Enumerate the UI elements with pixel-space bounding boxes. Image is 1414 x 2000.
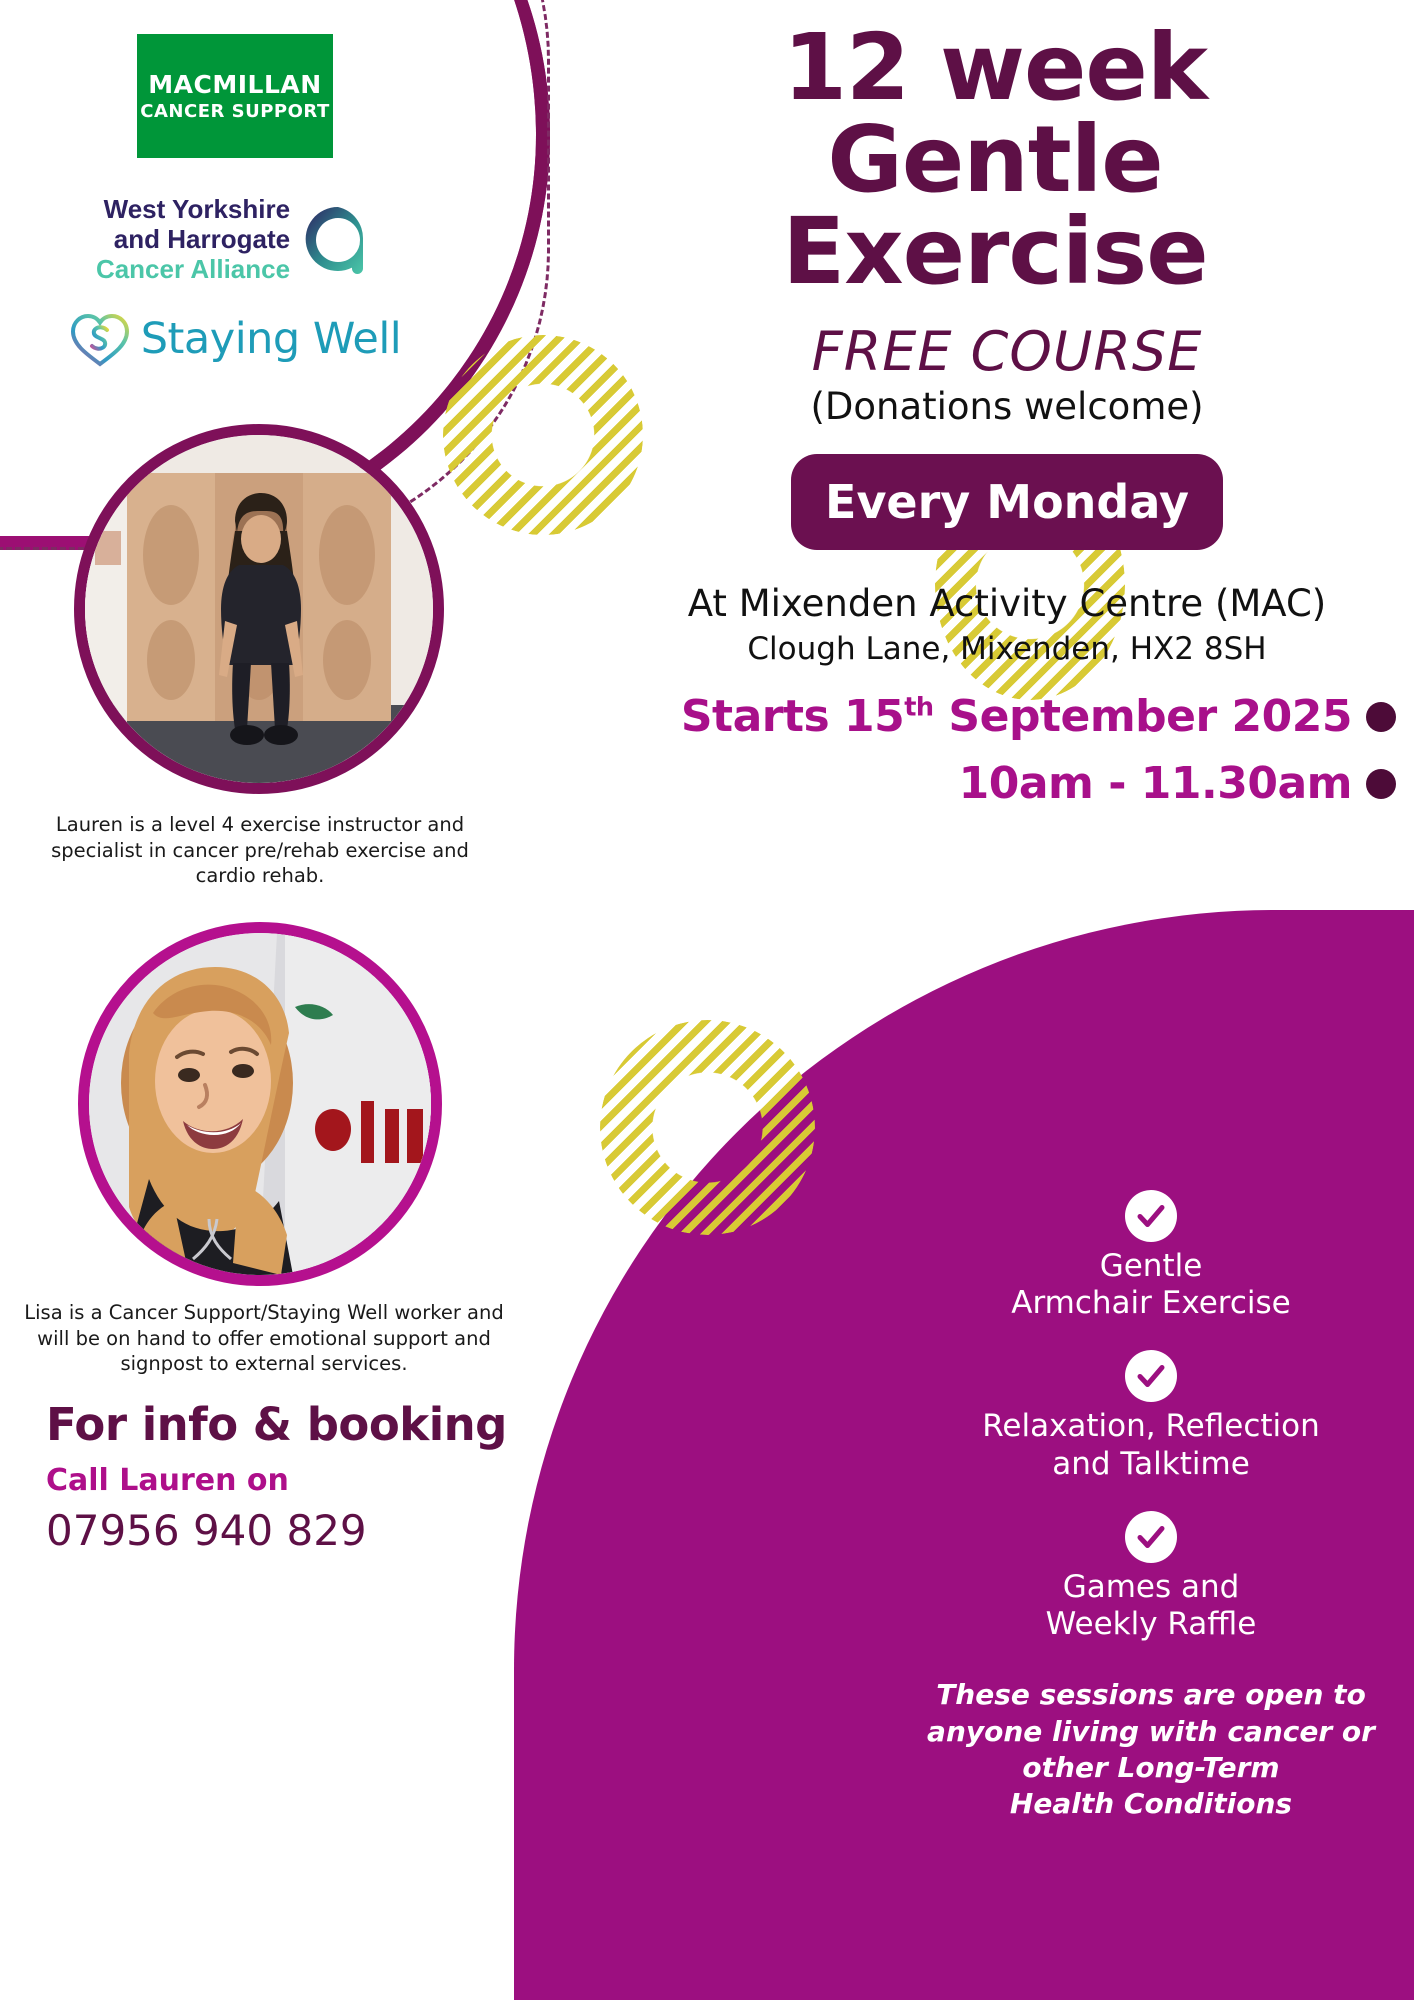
macmillan-logo-line1: MACMILLAN [148,70,321,99]
cancer-alliance-mark-icon [302,203,374,275]
schedule-badge: Every Monday [791,454,1223,550]
start-date-prefix: Starts 15 [681,691,904,742]
start-date-row: Starts 15th September 2025 [600,691,1414,742]
feature-item-relaxation-reflection-talktime: Relaxation, Reflection and Talktime [916,1350,1386,1482]
session-time-row: 10am - 11.30am [600,758,1414,809]
schedule-badge-label: Every Monday [825,475,1189,529]
support-worker-photo-lisa [78,922,442,1286]
feature-list: Gentle Armchair Exercise Relaxation, Ref… [916,1190,1386,1823]
staying-well-heart-icon [69,310,131,368]
decorative-striped-ring-bottom [600,1020,815,1235]
logo-stack: MACMILLAN CANCER SUPPORT West Yorkshire … [0,34,470,368]
donations-note: (Donations welcome) [600,385,1414,428]
caption-lauren: Lauren is a level 4 exercise instructor … [20,812,500,889]
staying-well-logo: Staying Well [0,310,470,368]
staying-well-label: Staying Well [141,314,401,364]
check-icon [1125,1190,1177,1242]
start-date-suffix: September 2025 [934,691,1352,742]
start-date-dot-icon [1366,702,1396,732]
caption-lisa: Lisa is a Cancer Support/Staying Well wo… [14,1300,514,1377]
page-title-line1: 12 week [600,22,1390,114]
booking-call-label: Call Lauren on [46,1463,516,1498]
cancer-alliance-line3: Cancer Alliance [96,254,290,284]
session-time-dot-icon [1366,769,1396,799]
eligibility-note-line2: anyone living with cancer or [916,1714,1386,1750]
instructor-photo-lauren [74,424,444,794]
feature-label-line1: Gentle [916,1248,1386,1285]
cancer-alliance-logo: West Yorkshire and Harrogate Cancer Alli… [0,194,470,284]
start-date-text: Starts 15th September 2025 [681,691,1352,742]
booking-phone-number[interactable]: 07956 940 829 [46,1506,516,1555]
start-date-ordinal: th [904,692,933,722]
feature-label-line2: Weekly Raffle [916,1606,1386,1643]
feature-label-line1: Games and [916,1569,1386,1606]
session-time-text: 10am - 11.30am [959,758,1352,809]
main-content: 12 week Gentle Exercise FREE COURSE (Don… [600,0,1414,809]
check-icon [1125,1511,1177,1563]
page-title: 12 week Gentle Exercise [600,0,1414,298]
instructor-photo-lauren-image [85,435,433,783]
check-icon [1125,1350,1177,1402]
poster-root: MACMILLAN CANCER SUPPORT West Yorkshire … [0,0,1414,2000]
cancer-alliance-line1: West Yorkshire [96,194,290,224]
eligibility-note: These sessions are open to anyone living… [916,1677,1386,1823]
feature-label-line1: Relaxation, Reflection [916,1408,1386,1445]
eligibility-note-line3: other Long-Term [916,1750,1386,1786]
booking-block: For info & booking Call Lauren on 07956 … [46,1398,516,1555]
free-course-label: FREE COURSE [600,320,1414,383]
eligibility-note-line1: These sessions are open to [916,1677,1386,1713]
feature-label-line2: Armchair Exercise [916,1285,1386,1322]
venue-name: At Mixenden Activity Centre (MAC) [600,582,1414,625]
page-title-line2: Gentle [600,114,1390,206]
cancer-alliance-logo-text: West Yorkshire and Harrogate Cancer Alli… [96,194,290,284]
support-worker-photo-lisa-image [89,933,431,1275]
page-title-line3: Exercise [600,206,1390,298]
macmillan-logo: MACMILLAN CANCER SUPPORT [137,34,333,158]
feature-item-games-weekly-raffle: Games and Weekly Raffle [916,1511,1386,1643]
macmillan-logo-line2: CANCER SUPPORT [140,101,329,122]
eligibility-note-line4: Health Conditions [916,1786,1386,1822]
feature-item-gentle-armchair-exercise: Gentle Armchair Exercise [916,1190,1386,1322]
feature-label-line2: and Talktime [916,1446,1386,1483]
booking-title: For info & booking [46,1398,516,1451]
cancer-alliance-line2: and Harrogate [96,224,290,254]
venue-address: Clough Lane, Mixenden, HX2 8SH [600,631,1414,667]
